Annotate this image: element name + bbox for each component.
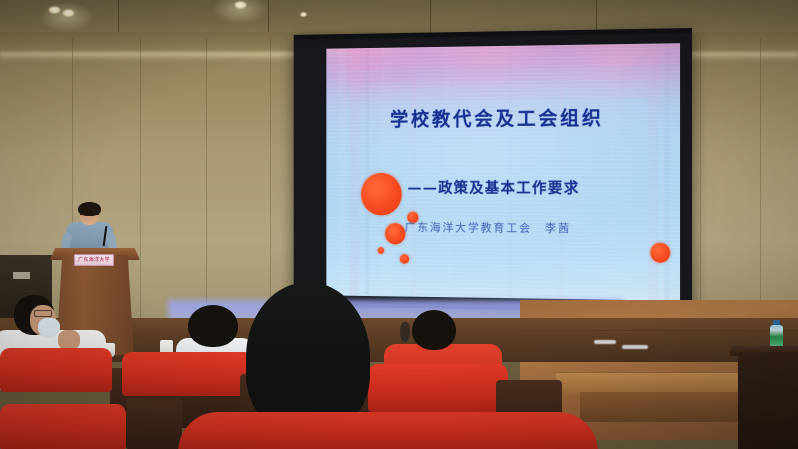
projector-scan-column: [664, 43, 670, 300]
slide-author: 广东海洋大学教育工会 李茜: [326, 219, 654, 237]
seat-back-frame: [126, 398, 182, 449]
projector-scan-column: [339, 48, 345, 295]
seat-red: [122, 352, 254, 396]
audience-head-red-shirt: [412, 310, 456, 350]
projector-scan-column: [350, 48, 359, 296]
face-mask-icon: [38, 318, 60, 338]
projector-scan-column: [559, 45, 564, 299]
projector-scan-column: [411, 47, 417, 296]
slide-subtitle: ——政策及基本工作要求: [326, 177, 666, 198]
floor-seam: [520, 330, 798, 331]
paper-on-stage: [594, 340, 616, 344]
wall-seam: [700, 38, 701, 320]
auditorium-photo: 学校教代会及工会组织 ——政策及基本工作要求 广东海洋大学教育工会 李茜 广东海…: [0, 0, 798, 449]
speaker-hair: [78, 202, 101, 216]
audience-hand: [58, 330, 80, 350]
audience-ear-mask-strap: [400, 322, 410, 342]
slide-title: 学校教代会及工会组织: [326, 101, 672, 132]
projector-scan-column: [609, 44, 617, 300]
slide-decor-circle-tiny: [400, 254, 409, 264]
podium-name-plate: 广东海洋大学: [74, 254, 114, 266]
spotlight-icon: [62, 9, 75, 17]
podium-name-plate-text: 广东海洋大学: [75, 255, 113, 265]
projector-scan-column: [509, 46, 512, 298]
wall-seam: [760, 38, 761, 320]
seat-red: [368, 364, 508, 412]
side-table: [738, 352, 798, 449]
audience-head-foreground: [246, 282, 370, 432]
audience-head-white-shirt: [188, 305, 238, 347]
wall-plate: [13, 272, 30, 279]
projection-screen-frame: 学校教代会及工会组织 ——政策及基本工作要求 广东海洋大学教育工会 李茜: [294, 33, 692, 313]
wall-seam: [206, 38, 207, 320]
slide-decor-circle-tiny: [378, 247, 384, 254]
slide-decor-circle-right: [650, 243, 670, 263]
wall-seam: [270, 38, 271, 320]
wall-seam: [140, 38, 141, 320]
spotlight-icon: [234, 1, 247, 9]
spotlight-icon: [300, 12, 307, 17]
seat-red-foreground: [0, 404, 126, 449]
projection-screen-surface: 学校教代会及工会组织 ——政策及基本工作要求 广东海洋大学教育工会 李茜: [326, 43, 680, 301]
paper-on-stage: [622, 345, 648, 349]
projector-scan-column: [365, 48, 370, 296]
ceiling-light-glow: [40, 2, 94, 32]
spotlight-icon: [48, 6, 61, 14]
projector-scan-column: [446, 47, 450, 298]
seat-red: [0, 348, 112, 392]
projector-scan-column: [381, 48, 392, 297]
glasses-icon: [34, 310, 52, 317]
seat-red-foreground: [178, 412, 598, 449]
